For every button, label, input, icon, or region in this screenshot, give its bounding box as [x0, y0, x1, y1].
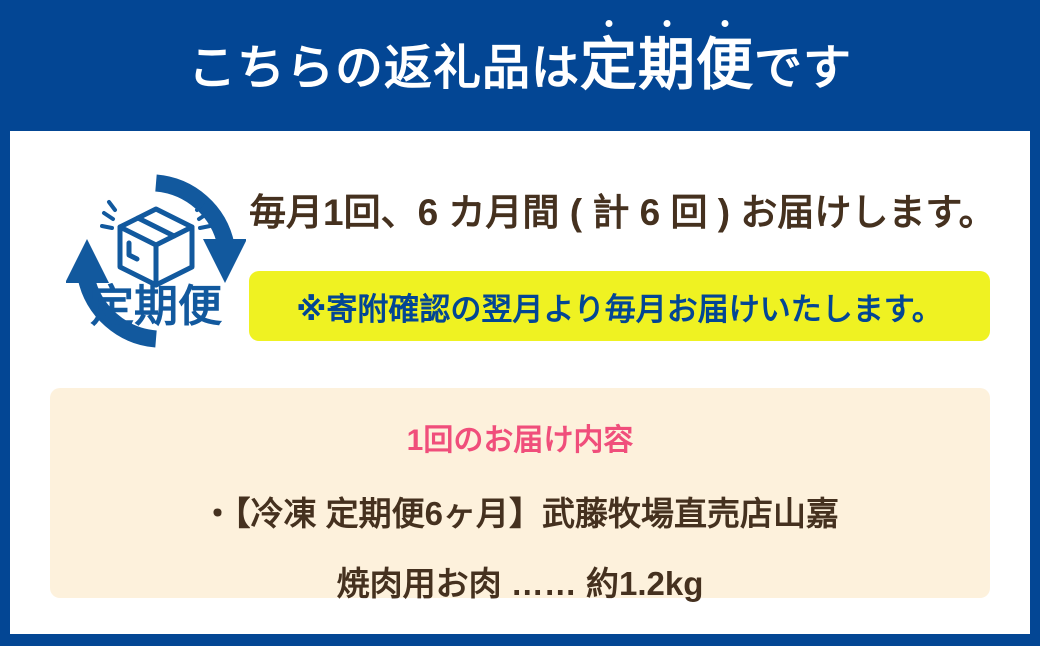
- logo-label: 定期便: [90, 282, 223, 331]
- shipment-contents-title: 1回のお届け内容: [407, 415, 634, 459]
- banner-body-panel: 定期便 毎月1回、6 カ月間 ( 計 6 回 ) お届けします。 ※寄附確認の翌…: [10, 131, 1030, 634]
- page-title-prefix: こちらの返礼品は: [188, 45, 580, 93]
- shipment-contents-item-2: 焼肉用お肉 …… 約1.2kg: [337, 557, 704, 605]
- teikibin-subscription-banner: こちらの返礼品は 定 期 便 です: [0, 0, 1040, 646]
- delivery-note-box: ※寄附確認の翌月より毎月お届けいたします。: [249, 271, 990, 341]
- page-title: こちらの返礼品は 定 期 便 です: [188, 37, 852, 94]
- subscription-cycle-box-icon: 定期便: [66, 171, 246, 351]
- emphasis-char-3: 便: [696, 37, 754, 94]
- delivery-summary-text: 毎月1回、6 カ月間 ( 計 6 回 ) お届けします。: [249, 192, 1009, 235]
- shipment-contents-item-1: ・【冷凍 定期便6ヶ月】武藤牧場直売店山嘉: [201, 487, 839, 535]
- page-title-suffix: です: [754, 45, 852, 93]
- delivery-note-text: ※寄附確認の翌月より毎月お届けいたします。: [296, 284, 942, 329]
- shipment-contents-box: 1回のお届け内容 ・【冷凍 定期便6ヶ月】武藤牧場直売店山嘉 焼肉用お肉 …… …: [50, 388, 990, 598]
- page-title-emphasis: 定 期 便: [580, 37, 754, 94]
- banner-header-band: こちらの返礼品は 定 期 便 です: [0, 0, 1040, 131]
- emphasis-char-1: 定: [580, 37, 638, 94]
- emphasis-char-2: 期: [638, 37, 696, 94]
